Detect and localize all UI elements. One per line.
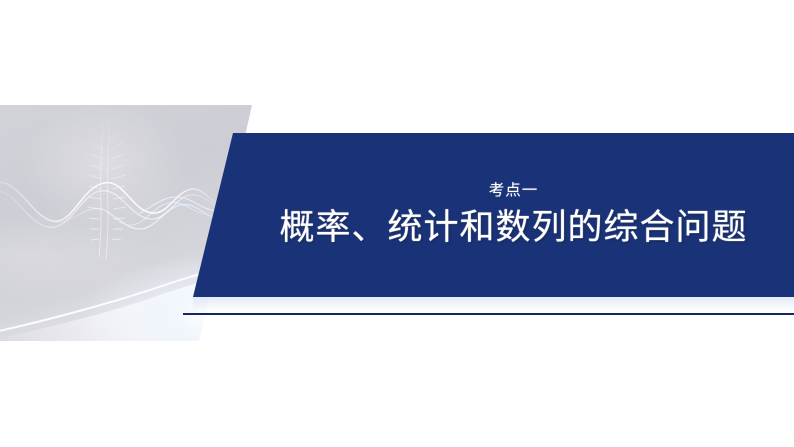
banner-eyebrow-label: 考点一 xyxy=(489,182,539,199)
slide-canvas: 考点一 概率、统计和数列的综合问题 xyxy=(0,0,794,447)
banner-text-block: 考点一 概率、统计和数列的综合问题 xyxy=(233,133,794,297)
banner-title: 概率、统计和数列的综合问题 xyxy=(279,208,747,248)
banner-under-sheen xyxy=(193,297,794,311)
banner-underline-rule xyxy=(183,313,794,315)
